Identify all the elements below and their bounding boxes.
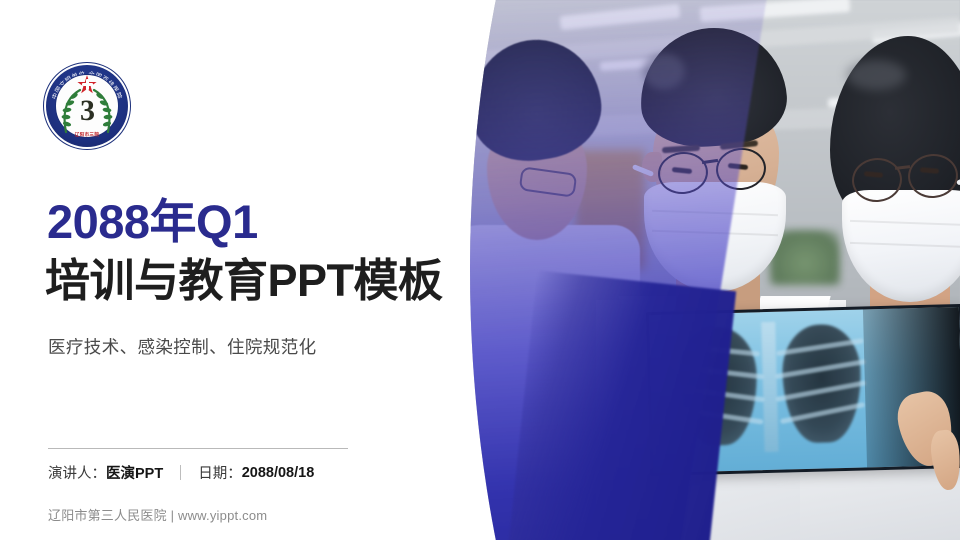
logo-medical-cross-icon <box>82 83 93 86</box>
footer-organization: 辽阳市第三人民医院 | www.yippt.com <box>48 505 267 524</box>
page-title: 培训与教育PPT模板 <box>45 256 443 306</box>
meta-separator <box>180 465 181 480</box>
title-content-panel: 中国文明单位 全国百佳医院 <box>0 0 470 540</box>
presenter-label: 演讲人： <box>48 462 106 483</box>
presenter-name: 医演PPT <box>106 462 163 483</box>
presenter-meta: 演讲人： 医演PPT 日期： 2088/08/18 <box>48 462 314 483</box>
hospital-logo: 中国文明单位 全国百佳医院 <box>43 62 131 150</box>
logo-center-glyph: 3 <box>43 96 131 126</box>
presentation-title-slide: 中国文明单位 全国百佳医院 <box>0 0 960 540</box>
logo-bottom-text: 辽阳市三院 <box>43 132 131 138</box>
date-label: 日期： <box>198 462 242 483</box>
xray-spine <box>761 322 778 452</box>
title-year: 2088年Q1 <box>47 198 258 247</box>
meta-divider <box>48 448 348 449</box>
date-value: 2088/08/18 <box>242 465 315 481</box>
subtitle: 医疗技术、感染控制、住院规范化 <box>48 334 317 359</box>
